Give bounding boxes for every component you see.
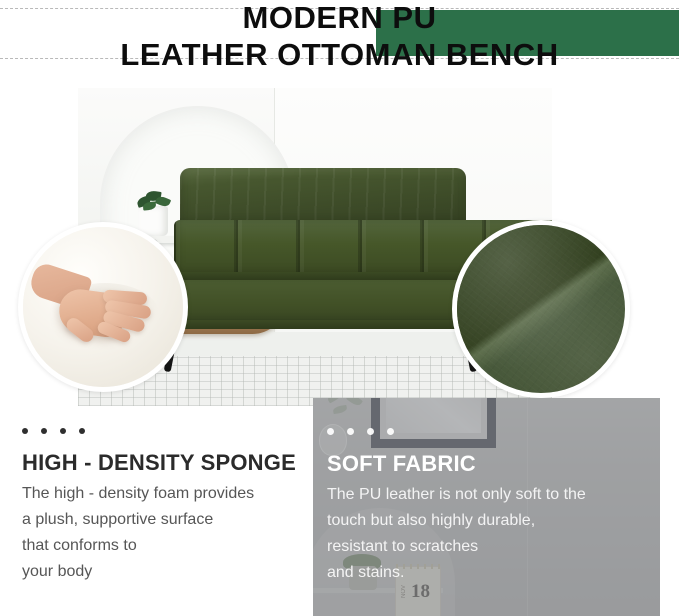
feature-body-line: touch but also highly durable,	[327, 512, 535, 529]
feature-body-line: resistant to scratches	[327, 538, 478, 555]
feature-soft-fabric: NOV 18 SOFT FABRIC The PU leather is not…	[313, 398, 660, 616]
dot-2	[41, 428, 47, 434]
hand-pressing-foam-icon	[37, 265, 157, 351]
dot-4	[79, 428, 85, 434]
leather-sheen	[457, 225, 625, 393]
dot-1	[22, 428, 28, 434]
dot-3	[367, 428, 374, 435]
feature-body-line: and stains.	[327, 564, 404, 581]
panel-text-content: SOFT FABRIC The PU leather is not only s…	[327, 428, 657, 586]
feature-dots-right	[327, 428, 657, 435]
page-title-line-1: MODERN PU	[243, 2, 437, 33]
dot-2	[347, 428, 354, 435]
plant-leaves-icon	[135, 188, 173, 212]
leather-detail-circle	[452, 220, 630, 398]
dot-3	[60, 428, 66, 434]
feature-body-line: that conforms to	[22, 537, 137, 554]
feature-body-line: a plush, supportive surface	[22, 511, 213, 528]
feature-high-density-sponge: HIGH - DENSITY SPONGE The high - density…	[22, 428, 322, 585]
feature-heading-right: SOFT FABRIC	[327, 452, 657, 476]
dot-4-active	[387, 428, 394, 435]
feature-body-line: The PU leather is not only soft to the	[327, 486, 586, 503]
feature-body-line: your body	[22, 563, 92, 580]
feature-body-line: The high - density foam provides	[22, 485, 254, 502]
page-title-line-2: LEATHER OTTOMAN BENCH	[120, 39, 558, 70]
feature-body-left: The high - density foam provides a plush…	[22, 481, 322, 585]
feature-body-right: The PU leather is not only soft to the t…	[327, 482, 657, 586]
foam-detail-circle	[18, 222, 188, 392]
product-feature-page: MODERN PU LEATHER OTTOMAN BENCH NOV 18	[0, 0, 679, 616]
dot-1	[327, 428, 334, 435]
page-header: MODERN PU LEATHER OTTOMAN BENCH	[0, 0, 679, 80]
feature-heading-left: HIGH - DENSITY SPONGE	[22, 451, 322, 475]
feature-dots-left	[22, 428, 322, 434]
page-title: MODERN PU LEATHER OTTOMAN BENCH	[0, 0, 679, 80]
